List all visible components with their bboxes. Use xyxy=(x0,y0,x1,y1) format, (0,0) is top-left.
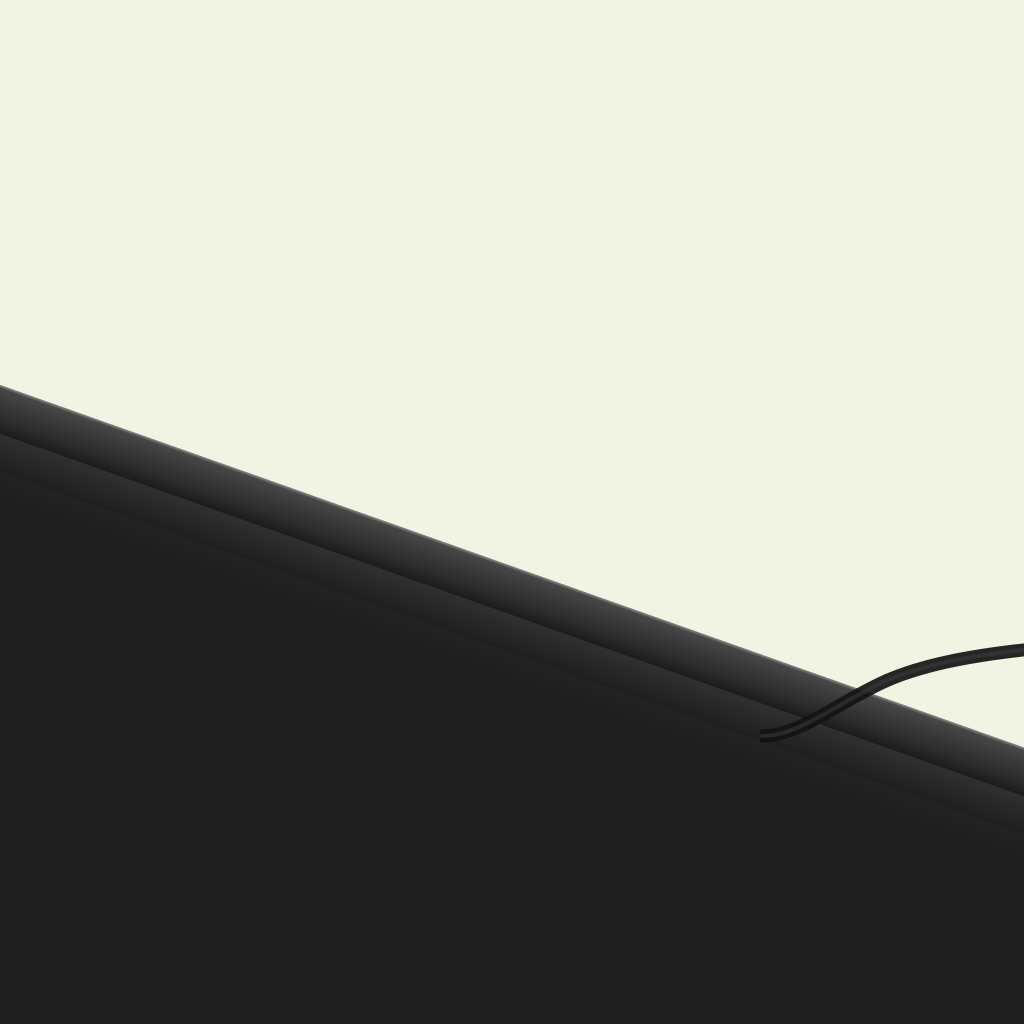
keyboard-body xyxy=(0,300,1024,1024)
screenshot-canvas xyxy=(0,0,1024,1024)
keyboard xyxy=(0,300,1024,1024)
